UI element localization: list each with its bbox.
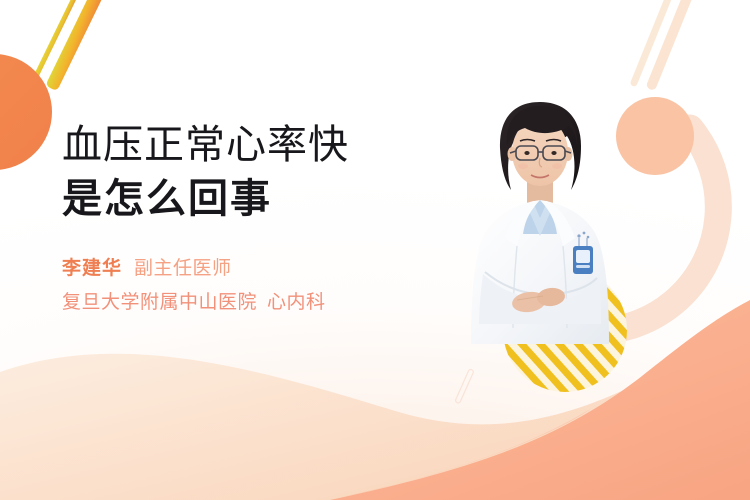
video-cover-card: 血压正常心率快 是怎么回事 李建华副主任医师 复旦大学附属中山医院心内科 [0,0,750,500]
accent-stripes-top-left [28,0,116,91]
headline-line-1: 血压正常心率快 [62,118,452,172]
headline-line-2: 是怎么回事 [62,172,452,226]
left-orange-circle [0,54,52,170]
byline-row-affiliation: 复旦大学附属中山医院心内科 [62,286,452,320]
doctor-portrait [455,96,625,344]
doctor-illustration [455,96,625,344]
text-block: 血压正常心率快 是怎么回事 李建华副主任医师 复旦大学附属中山医院心内科 [62,118,452,320]
doctor-name: 李建华 [62,258,122,279]
byline: 李建华副主任医师 复旦大学附属中山医院心内科 [62,252,452,320]
doctor-title: 副主任医师 [134,258,232,279]
department-name: 心内科 [267,292,326,313]
faint-stripes-top-right [629,0,702,91]
byline-row-doctor: 李建华副主任医师 [62,252,452,286]
hospital-name: 复旦大学附属中山医院 [62,292,257,313]
peach-circle [616,97,694,175]
